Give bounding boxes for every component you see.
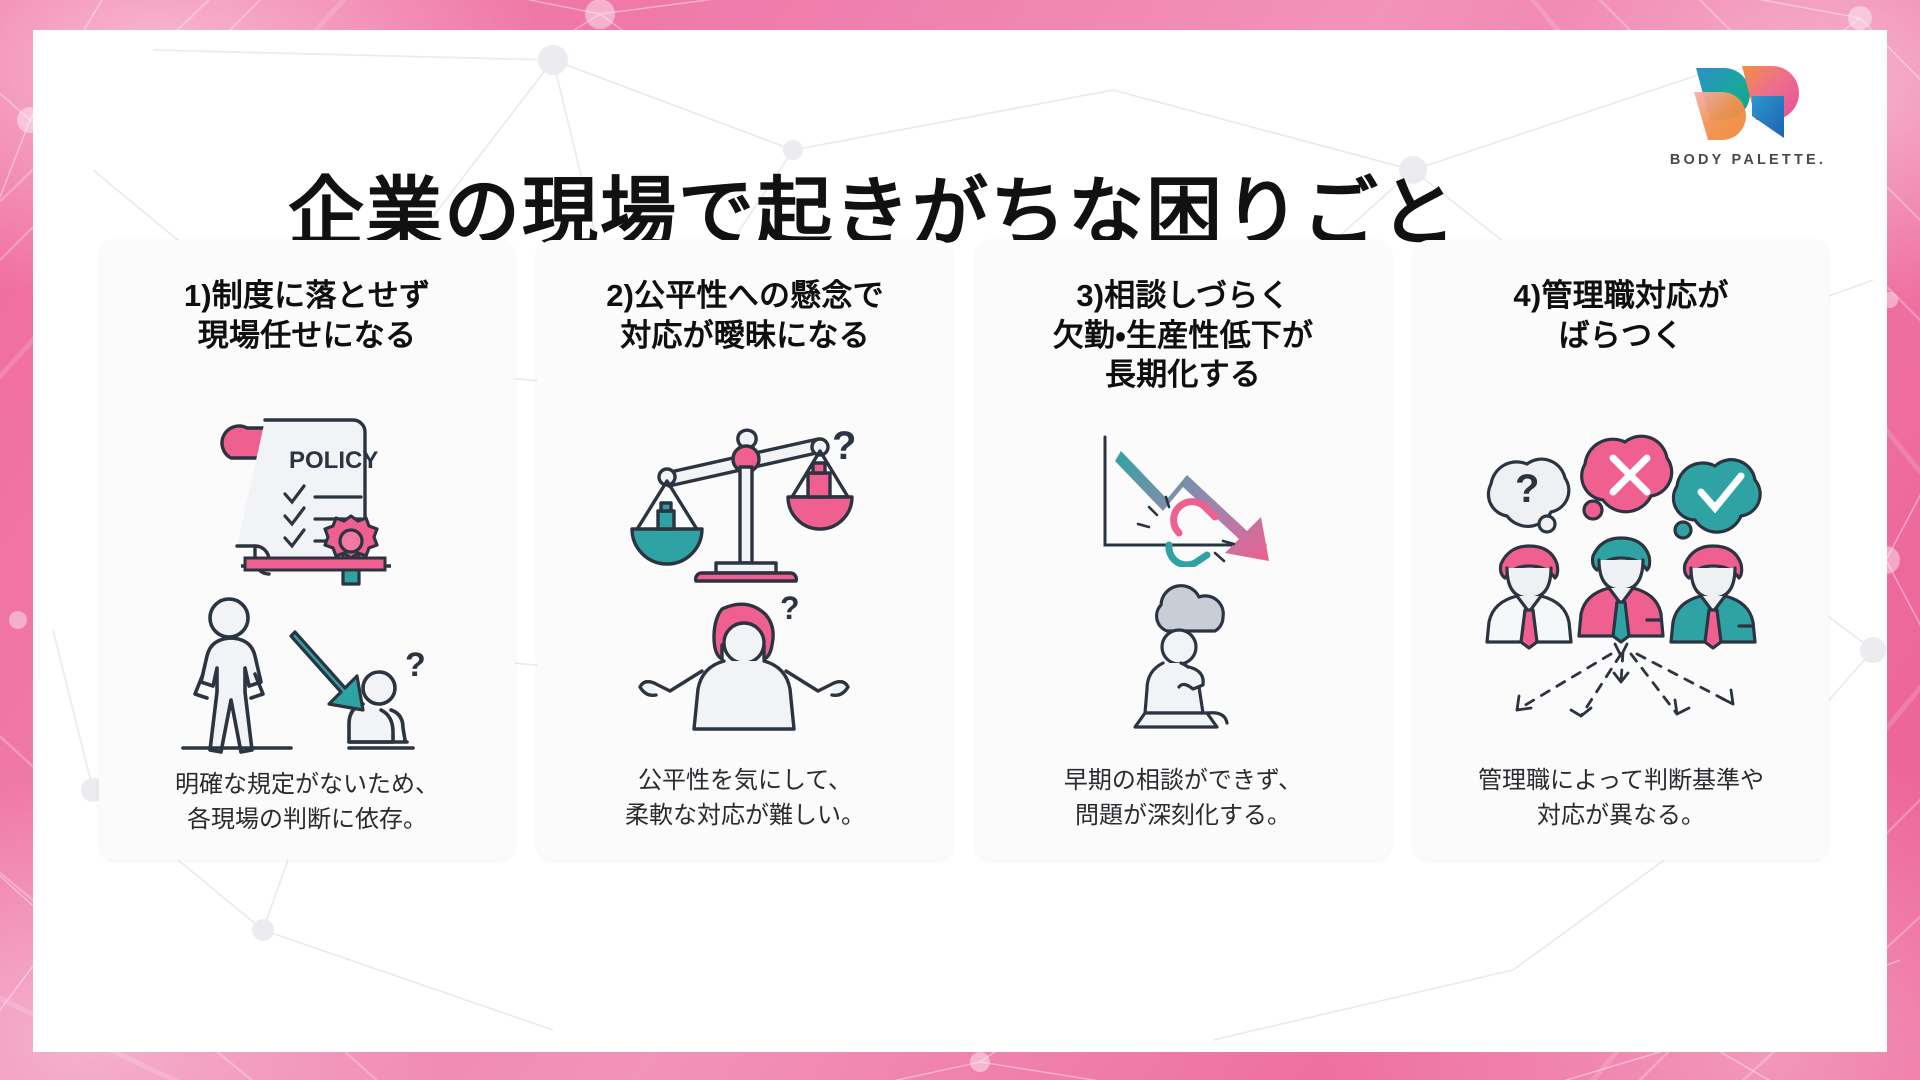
card-2-heading-line-1: 2)公平性への懸念で [606, 276, 884, 316]
shrugging-person-icon: ? [630, 595, 860, 745]
broken-chain-icon [1174, 501, 1215, 532]
brand-logo: BODY PALETTE. [1653, 58, 1843, 168]
question-mark: ? [1515, 467, 1539, 511]
card-3-caption: 早期の相談ができず、 問題が深刻化する。 [1064, 764, 1302, 834]
card-3-illustration [989, 395, 1377, 758]
problem-card-4[interactable]: 4)管理職対応が ばらつく ? [1413, 240, 1829, 860]
card-1-illustration: POLICY [113, 394, 501, 762]
scattered-arrows [1517, 652, 1733, 716]
standing-and-sitting-people-icon: ? [177, 592, 437, 762]
card-4-heading-line-2: ばらつく [1513, 316, 1728, 356]
policy-scroll-icon: POLICY [197, 398, 417, 588]
problem-card-3[interactable]: 3)相談しづらく 欠勤・生産性低下が 長期化する [975, 240, 1391, 860]
card-2-heading: 2)公平性への懸念で 対応が曖昧になる [606, 276, 884, 394]
card-4-heading: 4)管理職対応が ばらつく [1513, 276, 1728, 394]
card-4-caption-line-2: 対応が異なる。 [1478, 799, 1764, 834]
three-managers-icon: ? [1471, 428, 1771, 728]
question-mark: ? [405, 646, 426, 684]
rain-cloud-and-thinking-person-icon [1083, 571, 1283, 731]
card-1-heading: 1)制度に落とせず 現場任せになる [184, 276, 430, 394]
card-3-heading-line-3: 長期化する [1053, 355, 1313, 395]
problem-card-2[interactable]: 2)公平性への懸念で 対応が曖昧になる [537, 240, 953, 860]
card-3-heading-line-2: 欠勤・生産性低下が [1053, 316, 1313, 356]
content-panel: 企業の現場で起きがちな困りごと [33, 30, 1887, 1052]
question-mark: ? [832, 424, 856, 468]
card-3-heading-line-1: 3)相談しづらく [1053, 276, 1313, 316]
card-2-caption: 公平性を気にして、 柔軟な対応が難しい。 [625, 764, 865, 834]
card-2-heading-line-2: 対応が曖昧になる [606, 316, 884, 356]
policy-label: POLICY [289, 447, 378, 474]
problem-card-1[interactable]: 1)制度に落とせず 現場任せになる POLICY [99, 240, 515, 860]
question-mark: ? [780, 595, 800, 626]
card-3-caption-line-2: 問題が深刻化する。 [1064, 799, 1302, 834]
card-2-caption-line-2: 柔軟な対応が難しい。 [625, 799, 865, 834]
slide-root: 企業の現場で起きがちな困りごと [0, 0, 1920, 1080]
balance-scale-icon: ? [620, 411, 870, 591]
card-1-heading-line-1: 1)制度に落とせず [184, 276, 430, 316]
card-1-heading-line-2: 現場任せになる [184, 316, 430, 356]
body-palette-mark-icon [1680, 58, 1816, 146]
card-1-caption-line-2: 各現場の判断に依存。 [175, 803, 439, 838]
card-1-caption: 明確な規定がないため、 各現場の判断に依存。 [175, 768, 439, 838]
card-4-illustration: ? [1427, 394, 1815, 758]
card-2-illustration: ? ? [551, 394, 939, 758]
cards-row: 1)制度に落とせず 現場任せになる POLICY [99, 240, 1829, 860]
down-trend-arrow-icon [1083, 427, 1283, 567]
card-2-caption-line-1: 公平性を気にして、 [625, 764, 865, 799]
brand-name: BODY PALETTE. [1653, 152, 1843, 168]
card-4-caption-line-1: 管理職によって判断基準や [1478, 764, 1764, 799]
card-3-caption-line-1: 早期の相談ができず、 [1064, 764, 1302, 799]
card-4-caption: 管理職によって判断基準や 対応が異なる。 [1478, 764, 1764, 834]
card-1-caption-line-1: 明確な規定がないため、 [175, 768, 439, 803]
card-4-heading-line-1: 4)管理職対応が [1513, 276, 1728, 316]
card-3-heading: 3)相談しづらく 欠勤・生産性低下が 長期化する [1053, 276, 1313, 395]
